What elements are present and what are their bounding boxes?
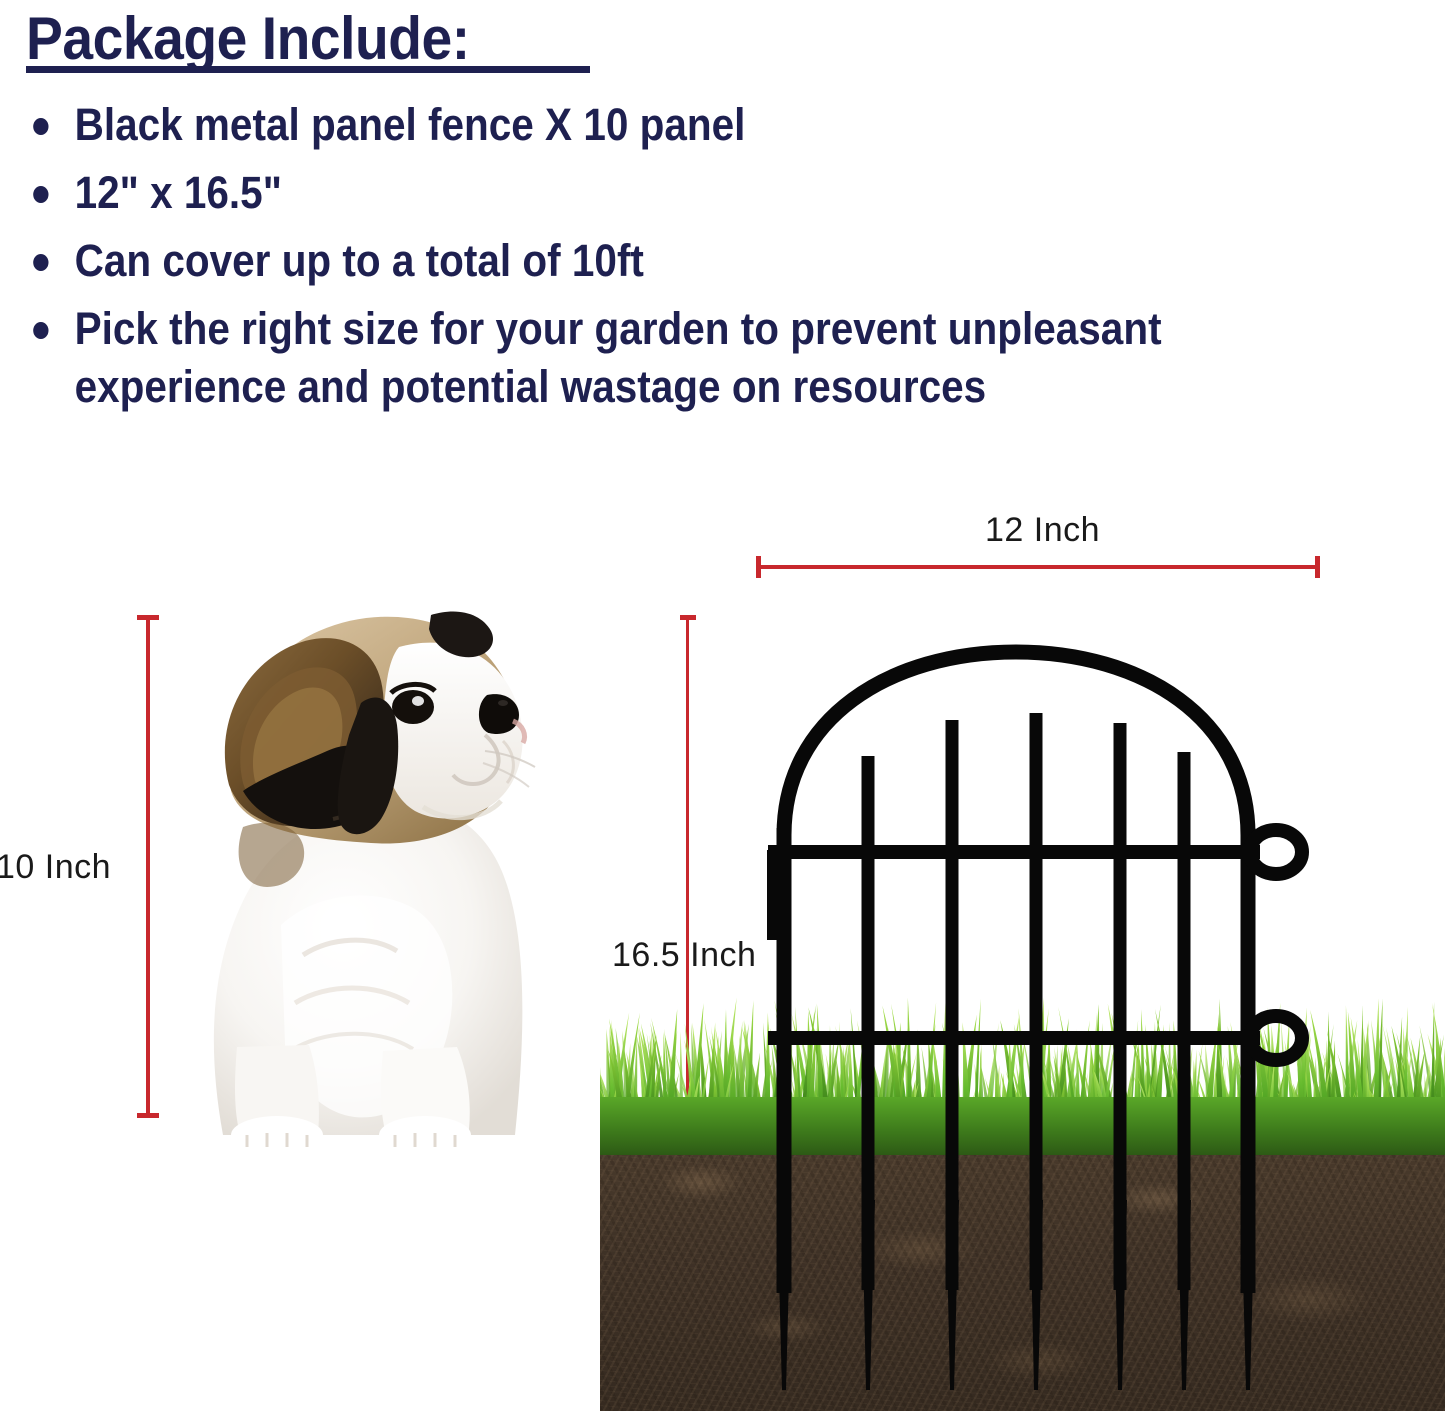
bullet-dot-icon [33,254,48,271]
size-comparison-diagram: 10 Inch [0,470,1445,1411]
list-item: 12" x 16.5" [26,164,1362,222]
list-item-label: Black metal panel fence X 10 panel [75,99,746,150]
feature-bullet-list: Black metal panel fence X 10 panel 12" x… [26,96,1326,426]
list-item-label: 12" x 16.5" [75,167,282,218]
fence-width-label: 12 Inch [985,511,1100,550]
measure-cap-right [1315,556,1320,578]
dog-height-measure-line [146,615,150,1118]
measure-cap-top [137,615,159,620]
list-item: Pick the right size for your garden to p… [26,300,1362,416]
measure-cap-top [680,615,696,620]
list-item: Can cover up to a total of 10ft [26,232,1362,290]
measure-cap-left [756,556,761,578]
list-item: Black metal panel fence X 10 panel [26,96,1362,154]
bullet-dot-icon [33,322,48,339]
page-title: Package Include: [26,4,470,73]
measure-cap-bottom [137,1113,159,1118]
title-underline [26,66,590,73]
bullet-dot-icon [33,186,48,203]
package-include-section: Package Include: Black metal panel fence… [0,0,1340,470]
puppy-photo [185,595,585,1155]
fence-width-measure-line [756,565,1320,569]
list-item-label: Pick the right size for your garden to p… [75,303,1162,412]
list-item-label: Can cover up to a total of 10ft [75,235,644,286]
fence-panel [740,600,1380,1411]
product-infographic: Package Include: Black metal panel fence… [0,0,1445,1411]
fence-height-label: 16.5 Inch [612,936,756,975]
bullet-dot-icon [33,118,48,135]
dog-height-label: 10 Inch [0,848,111,887]
